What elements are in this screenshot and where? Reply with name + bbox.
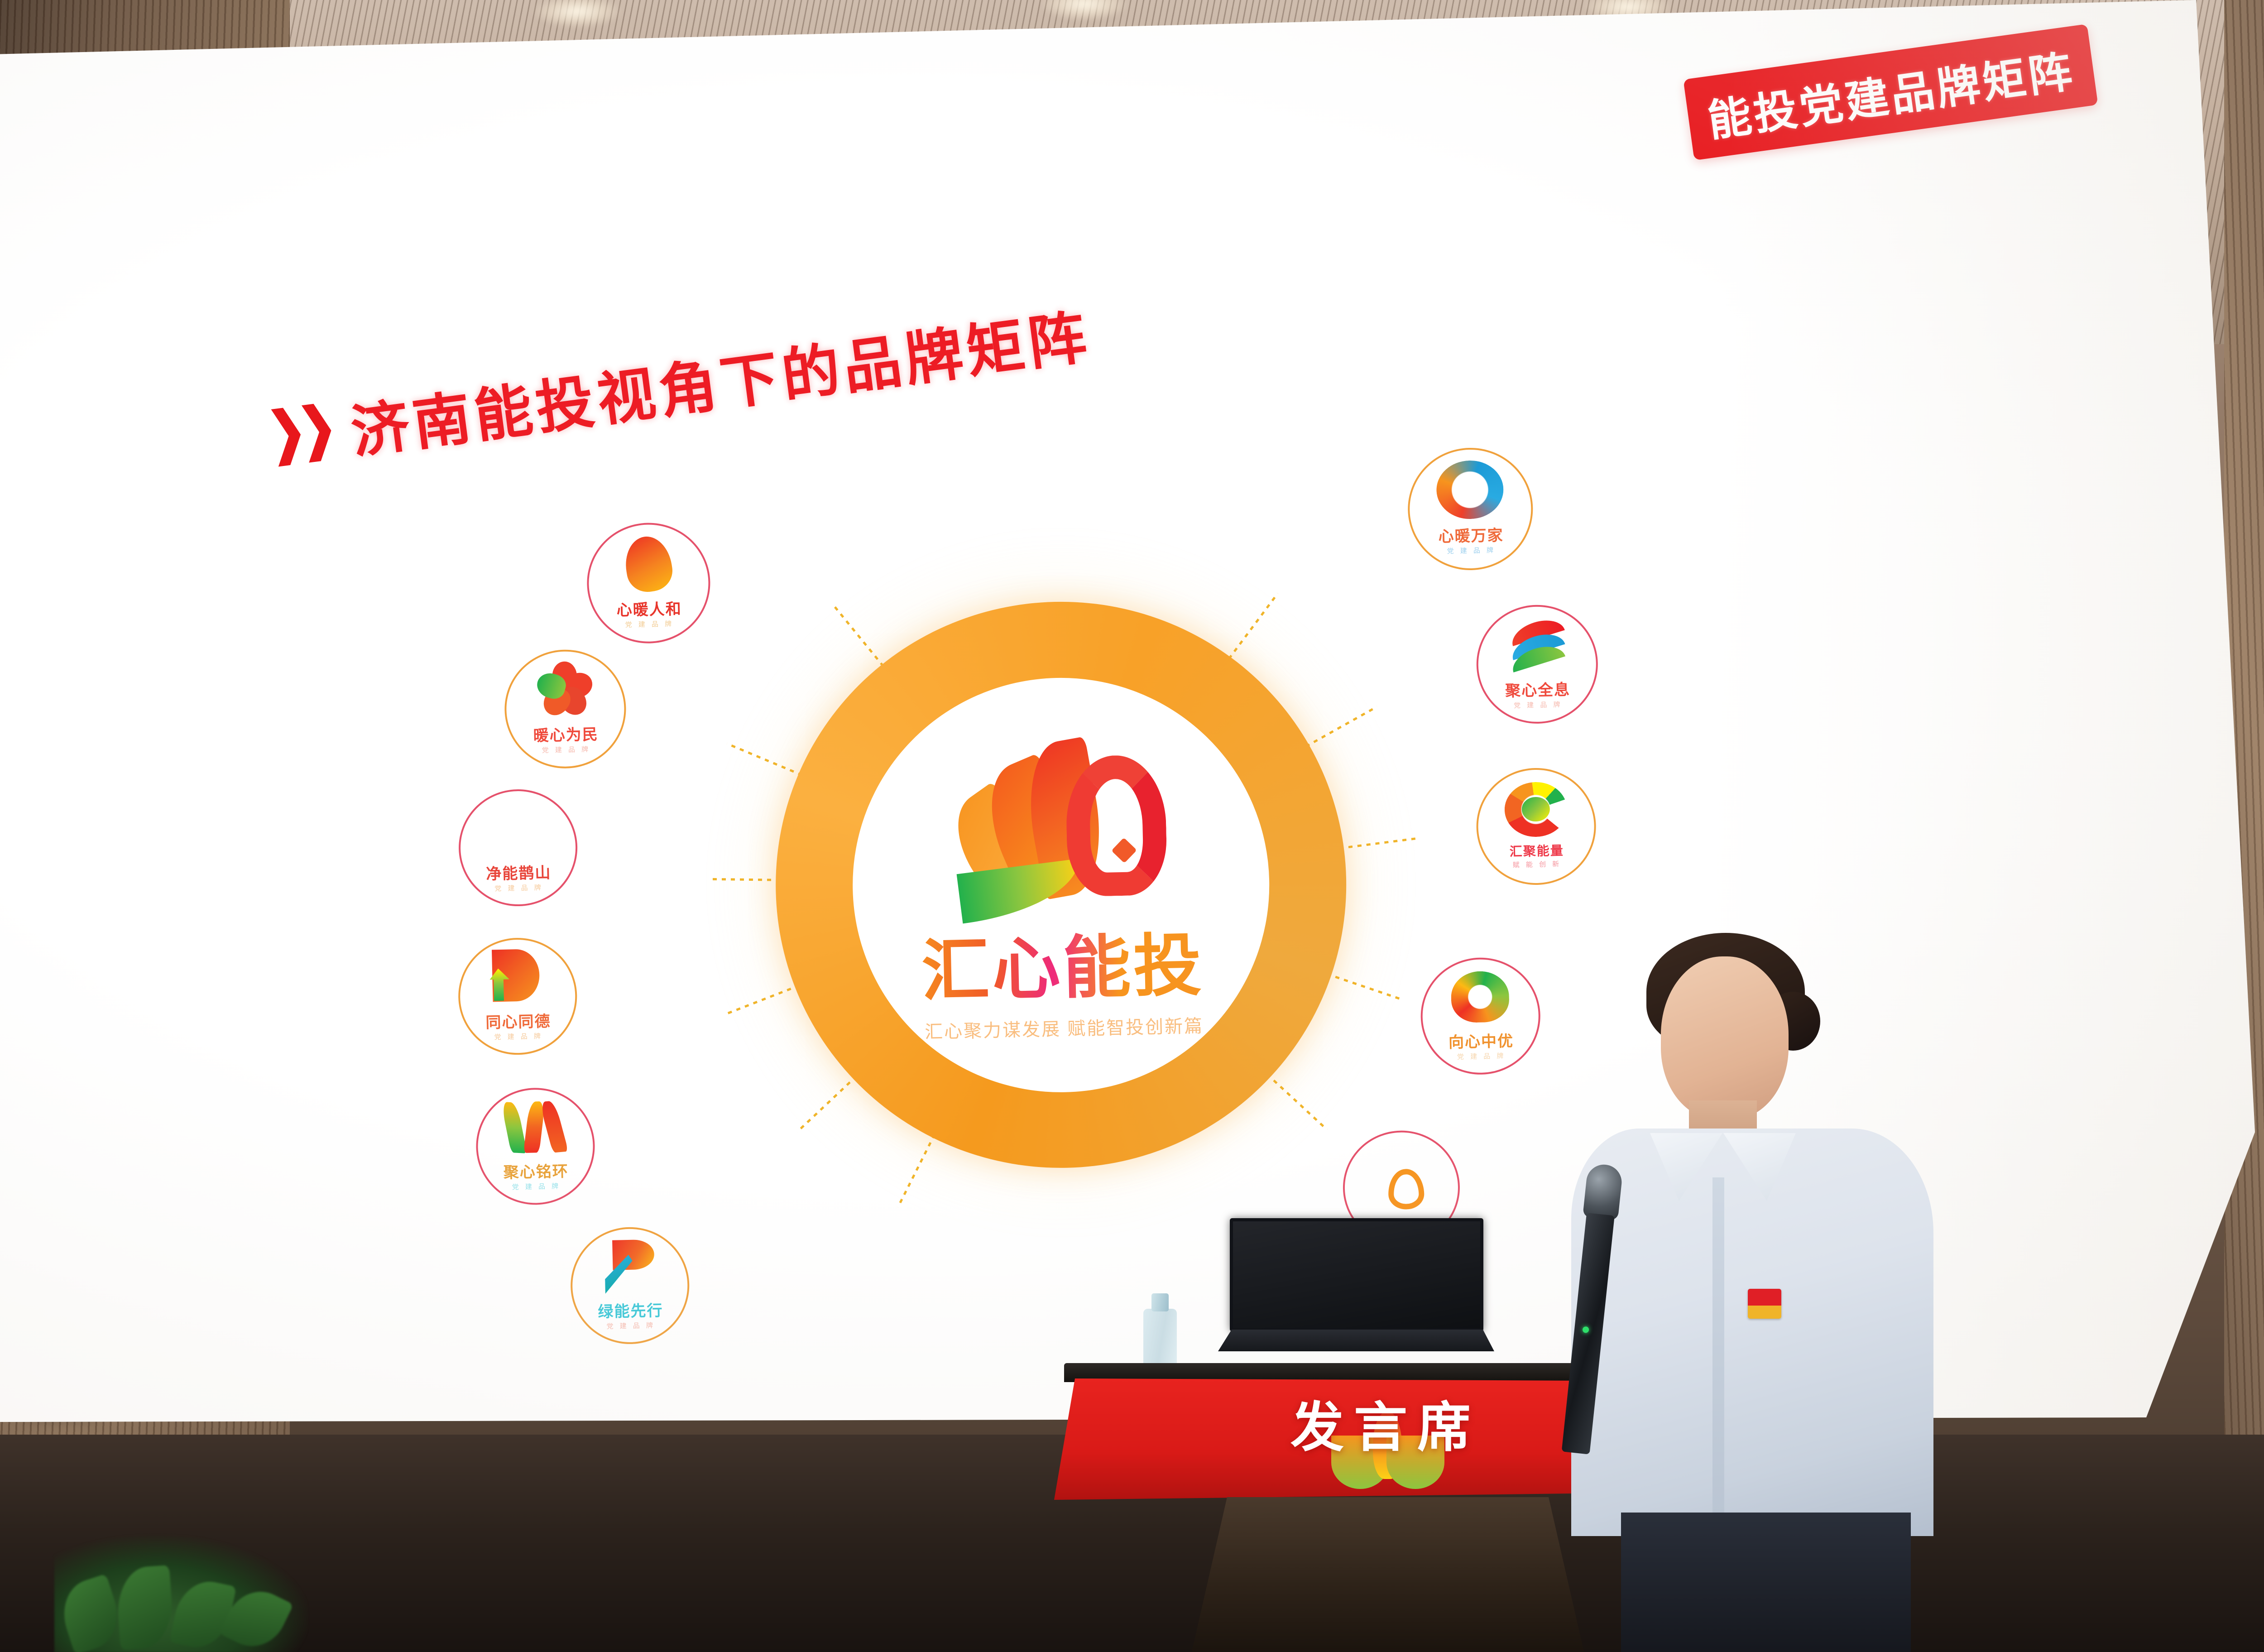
presenter — [1553, 924, 1952, 1652]
center-brand-logo: 汇心能投 汇心聚力谋发展 赋能智投创新篇 — [844, 670, 1278, 1100]
podium-label: 发言席 — [1050, 1384, 1721, 1461]
brand-node-sub: 党 建 品 牌 — [542, 744, 590, 754]
podium-base — [1186, 1497, 1585, 1652]
swoosh-icon — [1501, 614, 1573, 677]
brand-node-sub: 党 建 品 牌 — [1514, 699, 1563, 710]
d-arrow-icon — [482, 946, 552, 1008]
drop-flame-icon — [1367, 1154, 1436, 1215]
shirt-placket — [1712, 1177, 1724, 1535]
brand-node-sub: 党 建 品 牌 — [1457, 1051, 1506, 1061]
brand-node-juxinminghuan[interactable]: 聚心铭环 党 建 品 牌 — [475, 1087, 596, 1206]
ring-flame-icon — [1433, 457, 1507, 523]
lotus-heart-flame-icon — [951, 727, 1168, 912]
brand-node-xinnuanrenhe[interactable]: 心暖人和 党 建 品 牌 — [586, 522, 712, 645]
foreground-plant — [54, 1535, 308, 1652]
brand-node-sub: 党 建 品 牌 — [494, 1031, 543, 1042]
brand-node-sub: 党 建 品 牌 — [494, 883, 543, 893]
presenter-face — [1661, 956, 1789, 1119]
ceiling-light — [534, 0, 620, 27]
brand-node-jinengqueshan[interactable]: 净能鹊山 党 建 品 牌 — [457, 788, 579, 908]
brand-node-lvnengxianxing[interactable]: 绿能先行 党 建 品 牌 — [569, 1226, 691, 1345]
center-brand-tagline: 汇心聚力谋发展 赋能智投创新篇 — [924, 1011, 1204, 1043]
screenshot-root: 能投党建品牌矩阵 济南能投视角下的品牌矩阵 — [0, 0, 2264, 1652]
brand-node-xiangxinzhongyou[interactable]: 向心中优 党 建 品 牌 — [1420, 956, 1542, 1076]
presenter-shirt — [1571, 1129, 1933, 1536]
n-peaks-icon — [500, 1096, 570, 1158]
brand-node-nuanxinweimin[interactable]: 暖心为民 党 建 品 牌 — [504, 648, 628, 770]
brand-node-sub: 党 建 品 牌 — [512, 1181, 561, 1191]
brand-node-juxinquanxi[interactable]: 聚心全息 党 建 品 牌 — [1475, 604, 1599, 725]
laptop-keyboard — [1218, 1330, 1494, 1351]
flame-swirl-icon — [612, 532, 685, 596]
c-color-wheel-icon — [1501, 778, 1571, 840]
laptop-screen — [1230, 1218, 1483, 1331]
brand-node-sub: 党 建 品 牌 — [1447, 545, 1496, 555]
microphone-head — [1583, 1163, 1623, 1220]
two-heart-icon — [1445, 966, 1516, 1028]
presenter-laptop — [1218, 1218, 1494, 1377]
five-petal-icon — [529, 658, 600, 722]
brand-node-tongxintongde[interactable]: 同心同德 党 建 品 牌 — [457, 936, 578, 1056]
brand-node-sub: 党 建 品 牌 — [625, 619, 674, 629]
brand-node-sub: 赋 能 创 新 — [1512, 859, 1561, 869]
slide-corner-tag-label: 能投党建品牌矩阵 — [1703, 36, 2078, 149]
party-emblem-pin — [1748, 1289, 1781, 1319]
r-sail-icon — [595, 1235, 665, 1297]
ceiling-light — [1041, 0, 1127, 20]
brand-matrix-diagram: 济南能源投资控股集团有限公司党支部 济南热力集团有限公司党支部 济南鹊山水务有限… — [408, 406, 1742, 1408]
center-brand-name: 汇心能投 — [921, 910, 1205, 1015]
double-chevron-right-icon — [271, 402, 335, 466]
c-wave-icon — [483, 797, 553, 860]
brand-node-sub: 党 建 品 牌 — [606, 1321, 655, 1331]
brand-node-xinnuanwanjia[interactable]: 心暖万家 党 建 品 牌 — [1406, 447, 1534, 571]
slide-corner-tag: 能投党建品牌矩阵 — [1683, 24, 2098, 160]
brand-node-huijunengliang[interactable]: 汇聚能量 赋 能 创 新 — [1475, 767, 1597, 886]
presenter-trousers — [1621, 1513, 1911, 1652]
